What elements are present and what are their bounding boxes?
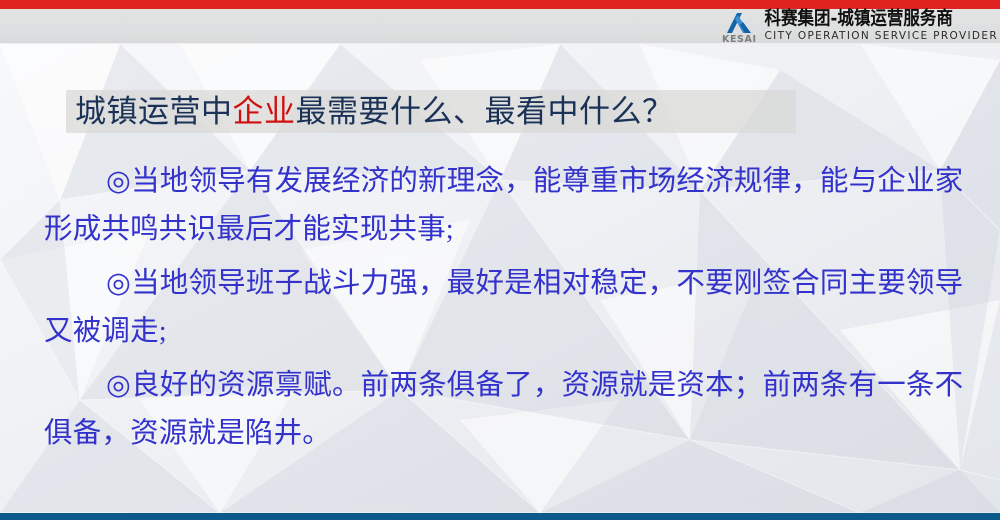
brand-name-en: CITY OPERATION SERVICE PROVIDER [765, 30, 999, 43]
brand-name-cn: 科赛集团-城镇运营服务商 [765, 9, 999, 29]
kesai-mountain-logo-icon: KESAI [721, 10, 761, 43]
bullet-paragraph: ◎当地领导有发展经济的新理念，能尊重市场经济规律，能与企业家形成共鸣共识最后才能… [44, 158, 964, 254]
brand-block: KESAI 科赛集团-城镇运营服务商 CITY OPERATION SERVIC… [721, 9, 999, 44]
title-part-2: 最需要什么、最看中什么？ [296, 94, 674, 129]
title-part-1: 城镇运营中 [75, 94, 233, 129]
brand-text: 科赛集团-城镇运营服务商 CITY OPERATION SERVICE PROV… [765, 10, 999, 43]
slide-canvas: KESAI 科赛集团-城镇运营服务商 CITY OPERATION SERVIC… [0, 0, 1000, 520]
page-title: 城镇运营中企业最需要什么、最看中什么？ [75, 92, 674, 132]
body-copy: ◎当地领导有发展经济的新理念，能尊重市场经济规律，能与企业家形成共鸣共识最后才能… [44, 158, 964, 458]
title-highlight-word: 企业 [233, 94, 296, 129]
bullet-paragraph: ◎当地领导班子战斗力强，最好是相对稳定，不要刚签合同主要领导又被调走; [44, 260, 964, 356]
bullet-paragraph: ◎良好的资源禀赋。前两条俱备了，资源就是资本；前两条有一条不俱备，资源就是陷井。 [44, 362, 964, 458]
svg-text:KESAI: KESAI [722, 34, 757, 43]
bottom-blue-accent-bar [0, 513, 1000, 520]
